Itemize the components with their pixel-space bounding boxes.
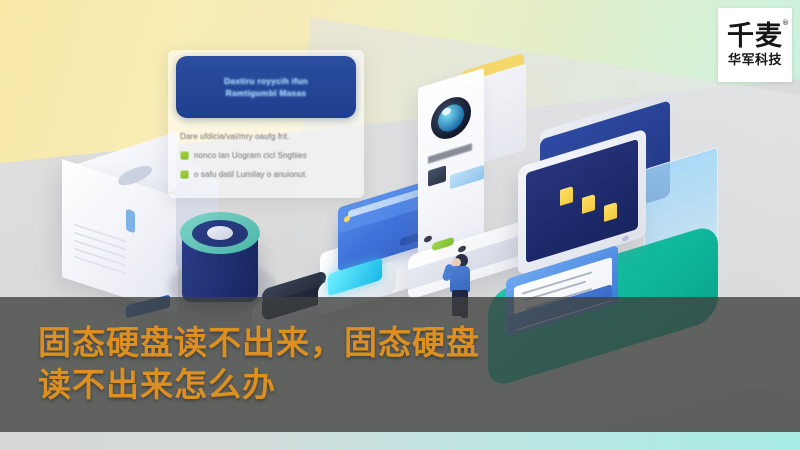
cover-image: Daxtiru royycih ifunRamtigumbl Masas Dar… — [0, 0, 800, 450]
registered-trademark-icon: ® — [782, 20, 790, 27]
brand-logo-secondary: 华军科技 — [728, 54, 782, 67]
page-title-line-2: 读不出来怎么办 — [38, 364, 698, 406]
list-item: Dare ufdicia/vai/mry oaufg frit. — [180, 130, 356, 142]
list-item-label: Dare ufdicia/vai/mry oaufg frit. — [180, 132, 289, 141]
person-shirt — [450, 266, 470, 292]
page-title-line-1: 固态硬盘读不出来，固态硬盘 — [38, 323, 480, 362]
brand-logo-primary: 千麦 ® — [727, 23, 783, 50]
info-card: Daxtiru royycih ifunRamtigumbl Masas Dar… — [168, 50, 364, 198]
green-square-bullet-icon — [180, 151, 189, 160]
pc-tower-power-button — [126, 209, 135, 234]
list-item: o safu datil Lumilay o anuionut. — [180, 168, 356, 180]
list-item: nonco lan Uogram cicl Sngtiies — [180, 149, 356, 161]
info-card-panel-text: Daxtiru royycih ifunRamtigumbl Masas — [224, 75, 308, 100]
page-title: 固态硬盘读不出来，固态硬盘 读不出来怎么办 — [38, 322, 698, 406]
info-card-bullet-list: Dare ufdicia/vai/mry oaufg frit. nonco l… — [180, 130, 356, 187]
list-item-label: nonco lan Uogram cicl Sngtiies — [194, 151, 307, 160]
list-item-label: o safu datil Lumilay o anuionut. — [194, 170, 308, 179]
bottom-strip — [0, 432, 800, 450]
green-square-bullet-icon — [180, 170, 189, 179]
brand-logo: 千麦 ® 华军科技 — [718, 8, 792, 82]
cylinder-drive-dial — [207, 226, 233, 240]
info-card-blue-panel: Daxtiru royycih ifunRamtigumbl Masas — [176, 56, 356, 118]
